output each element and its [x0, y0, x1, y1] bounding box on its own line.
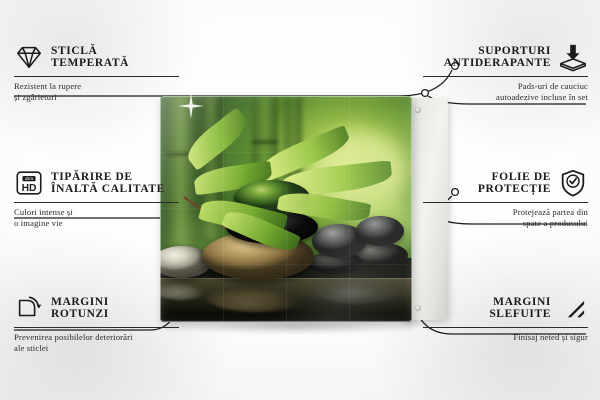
- rounded-corner-icon: [14, 293, 44, 323]
- feature-desc-line1: Finisaj neted și sigur: [423, 332, 588, 343]
- feature-title-line1: SUPORTURI: [444, 45, 551, 58]
- feature-description: Protejează partea din spate a produsului: [423, 207, 588, 228]
- feature-title-line2: SLEFUITE: [489, 308, 551, 321]
- stone-reflection: [206, 282, 310, 312]
- feature-desc-line1: Rezistent la rupere: [14, 81, 179, 92]
- feature-desc-line1: Prevenirea posibilelor deteriorări: [14, 332, 179, 343]
- feature-desc-line2: ale sticlei: [14, 343, 179, 354]
- feature-divider: [423, 202, 588, 203]
- feature-header: FOLIE DE PROTECȚIE: [423, 168, 588, 198]
- feature-margini-slefuite: MARGINI SLEFUITE Finisaj neted și sigur: [423, 293, 588, 343]
- feature-title: STICLĂ TEMPERATĂ: [51, 45, 129, 70]
- feature-title-line2: TEMPERATĂ: [51, 57, 129, 70]
- feature-divider: [423, 76, 588, 77]
- shield-check-icon: [558, 168, 588, 198]
- feature-margini-rotunzi: MARGINI ROTUNZI Prevenirea posibilelor d…: [14, 293, 179, 353]
- feature-title: FOLIE DE PROTECȚIE: [478, 171, 551, 196]
- feature-tiparire-inalta-calitate: ultra HD TIPĂRIRE DE ÎNALTĂ CALITATE Cul…: [14, 168, 179, 228]
- press-pad-icon: [558, 42, 588, 72]
- feature-desc-line2: autoadezive incluse în set: [423, 92, 588, 103]
- infographic-canvas: STICLĂ TEMPERATĂ Rezistent la rupere și …: [0, 0, 600, 400]
- feature-description: Culori intense și o imagine vie: [14, 207, 179, 228]
- feature-desc-line2: o imagine vie: [14, 218, 179, 229]
- feature-divider: [14, 76, 179, 77]
- feature-suporturi-antiderapante: SUPORTURI ANTIDERAPANTE Pads-uri de cauc…: [423, 42, 588, 102]
- feature-desc-line1: Pads-uri de cauciuc: [423, 81, 588, 92]
- mount-screw-top: [415, 107, 421, 113]
- feature-folie-de-protectie: FOLIE DE PROTECȚIE Protejează partea din…: [423, 168, 588, 228]
- feature-desc-line1: Culori intense și: [14, 207, 179, 218]
- feature-header: ultra HD TIPĂRIRE DE ÎNALTĂ CALITATE: [14, 168, 179, 198]
- bamboo-node: [252, 140, 278, 144]
- diamond-icon: [14, 42, 44, 72]
- feature-title-line2: ROTUNZI: [51, 308, 109, 321]
- feature-description: Prevenirea posibilelor deteriorări ale s…: [14, 332, 179, 353]
- feature-desc-line1: Protejează partea din: [423, 207, 588, 218]
- feature-title-line2: ÎNALTĂ CALITATE: [51, 183, 165, 196]
- product-image: [160, 96, 448, 324]
- feature-title-line2: PROTECȚIE: [478, 183, 551, 196]
- feature-title-line1: MARGINI: [51, 296, 109, 309]
- feature-header: MARGINI SLEFUITE: [423, 293, 588, 323]
- feature-desc-line2: și zgârieturi: [14, 92, 179, 103]
- feature-header: MARGINI ROTUNZI: [14, 293, 179, 323]
- feature-description: Finisaj neted și sigur: [423, 332, 588, 343]
- feature-desc-line2: spate a produsului: [423, 218, 588, 229]
- feature-divider: [423, 327, 588, 328]
- feature-header: STICLĂ TEMPERATĂ: [14, 42, 179, 72]
- feature-title: MARGINI ROTUNZI: [51, 296, 109, 321]
- feature-title-line1: TIPĂRIRE DE: [51, 171, 165, 184]
- feature-title-line1: STICLĂ: [51, 45, 129, 58]
- glass-panel: [160, 96, 412, 322]
- hatched-triangle-icon: [558, 293, 588, 323]
- feature-divider: [14, 202, 179, 203]
- ultra-label: ultra: [25, 176, 34, 181]
- feature-title-line1: FOLIE DE: [478, 171, 551, 184]
- feature-description: Pads-uri de cauciuc autoadezive incluse …: [423, 81, 588, 102]
- feature-sticla-temperata: STICLĂ TEMPERATĂ Rezistent la rupere și …: [14, 42, 179, 102]
- feature-title-line2: ANTIDERAPANTE: [444, 57, 551, 70]
- stone-reflection: [310, 270, 406, 304]
- feature-title: SUPORTURI ANTIDERAPANTE: [444, 45, 551, 70]
- stone-grey: [356, 216, 404, 246]
- feature-title: TIPĂRIRE DE ÎNALTĂ CALITATE: [51, 171, 165, 196]
- feature-divider: [14, 327, 179, 328]
- feature-title: MARGINI SLEFUITE: [489, 296, 551, 321]
- mount-screw-bottom: [415, 305, 421, 311]
- feature-title-line1: MARGINI: [489, 296, 551, 309]
- feature-header: SUPORTURI ANTIDERAPANTE: [423, 42, 588, 72]
- feature-description: Rezistent la rupere și zgârieturi: [14, 81, 179, 102]
- hd-label: HD: [22, 183, 37, 194]
- printed-scene: [160, 96, 412, 322]
- ultra-hd-icon: ultra HD: [14, 168, 44, 198]
